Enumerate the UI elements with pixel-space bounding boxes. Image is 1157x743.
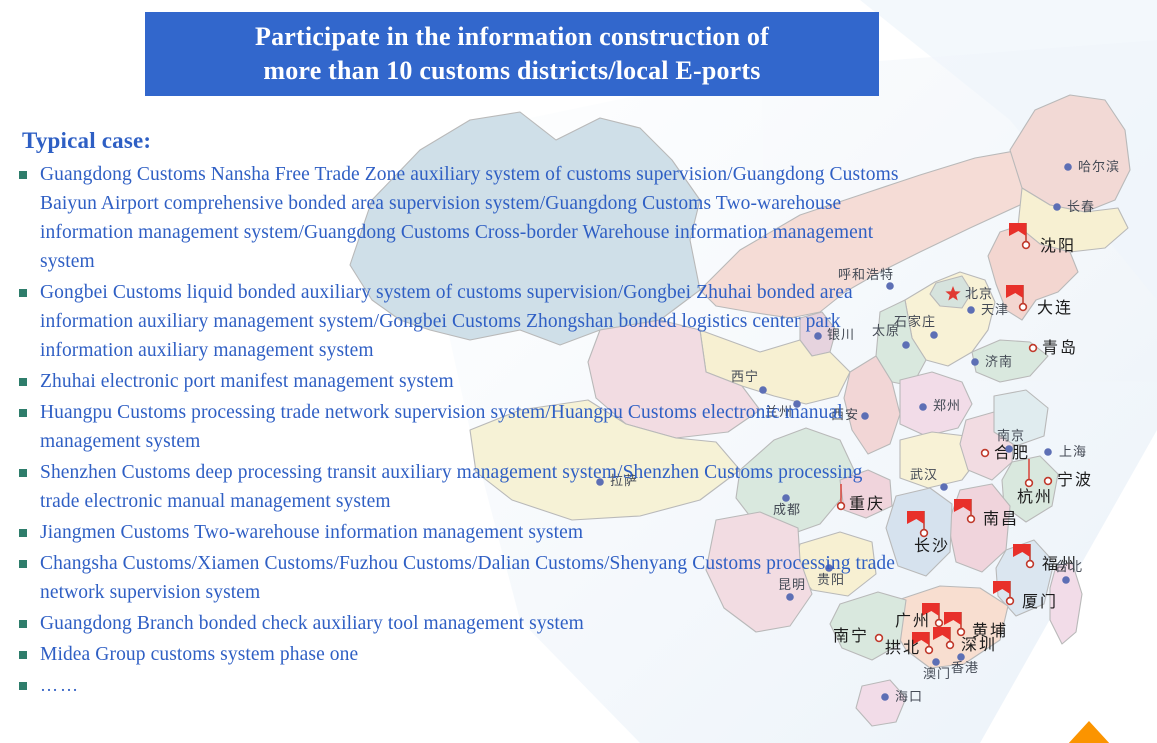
typical-case-heading: Typical case: xyxy=(22,128,900,154)
map-city-label-flagged: 南昌 xyxy=(983,509,1019,528)
map-major-city: 宁波 xyxy=(1045,470,1093,489)
square-bullet-icon xyxy=(19,651,27,659)
list-item: Changsha Customs/Xiamen Customs/Fuzhou C… xyxy=(16,549,900,607)
square-bullet-icon xyxy=(19,529,27,537)
map-city-label-minor: 上海 xyxy=(1059,445,1087,460)
map-minor-city: 澳门 xyxy=(923,658,951,682)
province-jilin xyxy=(1018,188,1128,252)
list-item: Midea Group customs system phase one xyxy=(16,640,900,669)
square-bullet-icon xyxy=(19,682,27,690)
capital-star-icon xyxy=(945,286,960,300)
map-city-label-flagged: 沈阳 xyxy=(1040,236,1076,255)
list-item: Zhuhai electronic port manifest manageme… xyxy=(16,367,900,396)
map-minor-city: 石家庄 xyxy=(894,314,938,339)
city-ring-marker xyxy=(1030,345,1037,352)
square-bullet-icon xyxy=(19,620,27,628)
square-bullet-icon xyxy=(19,171,27,179)
province-fujian xyxy=(996,540,1054,616)
map-city-label-flagged: 深圳 xyxy=(961,635,997,654)
list-item-label: Midea Group customs system phase one xyxy=(40,640,900,669)
city-ring-marker xyxy=(926,647,933,654)
city-dot-marker xyxy=(940,483,948,491)
list-item: Guangdong Branch bonded check auxiliary … xyxy=(16,609,900,638)
city-ring-marker xyxy=(1023,242,1030,249)
city-dot-marker xyxy=(1064,163,1072,171)
province-anhui xyxy=(960,412,1014,480)
slide-root: 沈阳大连南昌福州厦门广州黄埔深圳拱北长沙杭州重庆合肥宁波青岛南宁哈尔滨长春呼和浩… xyxy=(0,0,1157,743)
city-ring-marker xyxy=(1027,561,1034,568)
map-city-label-minor: 北京 xyxy=(965,287,993,302)
list-item: Gongbei Customs liquid bonded auxiliary … xyxy=(16,278,900,365)
map-city-label-minor: 石家庄 xyxy=(894,314,936,330)
city-dot-marker xyxy=(1005,445,1013,453)
city-dot-marker xyxy=(902,341,910,349)
list-item-label: Huangpu Customs processing trade network… xyxy=(40,398,900,456)
map-minor-city: 哈尔滨 xyxy=(1064,159,1120,175)
list-item-label: Zhuhai electronic port manifest manageme… xyxy=(40,367,900,396)
list-item-label: Shenzhen Customs deep processing transit… xyxy=(40,458,900,516)
map-capital-city: 北京 xyxy=(945,286,993,302)
map-city-label-pole: 杭州 xyxy=(1017,487,1053,506)
city-ring-marker xyxy=(936,620,943,627)
case-bullet-list: Guangdong Customs Nansha Free Trade Zone… xyxy=(0,160,900,700)
map-minor-city: 上海 xyxy=(1044,445,1087,460)
map-city-label-flagged: 大连 xyxy=(1037,298,1073,317)
province-taiwan xyxy=(1050,562,1082,644)
content-area: Typical case: Guangdong Customs Nansha F… xyxy=(0,104,900,702)
map-city-label-minor: 济南 xyxy=(985,354,1013,370)
city-ring-marker xyxy=(921,530,928,537)
map-minor-city: 长春 xyxy=(1053,200,1095,215)
province-jiangsu xyxy=(994,390,1048,446)
map-city-label-flagged: 厦门 xyxy=(1022,592,1058,611)
province-heilongjiang xyxy=(1010,95,1130,212)
page-title: Participate in the information construct… xyxy=(243,20,781,88)
list-item: …… xyxy=(16,671,900,700)
square-bullet-icon xyxy=(19,560,27,568)
map-flag-marker: 长沙 xyxy=(907,511,950,555)
city-dot-marker xyxy=(932,658,940,666)
list-item-label: …… xyxy=(40,671,900,700)
map-major-city: 青岛 xyxy=(1030,338,1078,357)
province-shandong xyxy=(972,340,1048,382)
square-bullet-icon xyxy=(19,469,27,477)
map-flag-marker: 广州 xyxy=(895,603,942,630)
province-hubei xyxy=(900,432,980,488)
list-item: Shenzhen Customs deep processing transit… xyxy=(16,458,900,516)
city-ring-marker xyxy=(982,450,989,457)
map-city-label-major: 合肥 xyxy=(994,443,1030,462)
map-city-label-minor: 长春 xyxy=(1067,200,1095,215)
city-ring-marker xyxy=(968,516,975,523)
map-flag-marker: 福州 xyxy=(1013,544,1078,573)
title-line-1: Participate in the information construct… xyxy=(255,22,769,51)
title-banner: Participate in the information construct… xyxy=(145,12,879,96)
map-flag-marker: 黄埔 xyxy=(944,612,1008,640)
list-item-label: Gongbei Customs liquid bonded auxiliary … xyxy=(40,278,900,365)
city-ring-marker xyxy=(1007,598,1014,605)
map-minor-city: 南京 xyxy=(997,428,1025,453)
list-item-label: Guangdong Customs Nansha Free Trade Zone… xyxy=(40,160,900,276)
list-item-label: Guangdong Branch bonded check auxiliary … xyxy=(40,609,900,638)
list-item: Guangdong Customs Nansha Free Trade Zone… xyxy=(16,160,900,276)
map-flag-marker: 南昌 xyxy=(954,499,1019,528)
map-minor-city: 台北 xyxy=(1055,560,1083,584)
square-bullet-icon xyxy=(19,378,27,386)
square-bullet-icon xyxy=(19,409,27,417)
city-ring-marker xyxy=(1026,480,1033,487)
map-major-city: 合肥 xyxy=(982,443,1030,462)
city-dot-marker xyxy=(930,331,938,339)
corner-triangle-decoration xyxy=(1067,721,1111,743)
city-dot-marker xyxy=(1062,576,1070,584)
map-city-label-flagged: 福州 xyxy=(1042,554,1078,573)
list-item-label: Jiangmen Customs Two-warehouse informati… xyxy=(40,518,900,547)
province-liaoning xyxy=(988,226,1078,320)
map-minor-city: 香港 xyxy=(951,653,979,676)
city-dot-marker xyxy=(967,306,975,314)
map-minor-city: 郑州 xyxy=(919,399,961,414)
city-dot-marker xyxy=(1053,203,1061,211)
map-city-label-major: 青岛 xyxy=(1042,338,1078,357)
map-minor-city: 天津 xyxy=(967,303,1009,318)
map-city-label-minor: 哈尔滨 xyxy=(1078,159,1120,175)
map-city-label-minor: 澳门 xyxy=(923,666,951,682)
map-city-label-flagged: 长沙 xyxy=(914,536,950,555)
city-dot-marker xyxy=(971,358,979,366)
map-minor-city: 济南 xyxy=(971,354,1013,370)
map-pole-marker: 杭州 xyxy=(1017,459,1053,506)
map-minor-city: 武汉 xyxy=(910,468,948,491)
square-bullet-icon xyxy=(19,289,27,297)
province-guangdong xyxy=(892,586,1008,668)
map-flag-marker: 厦门 xyxy=(993,581,1058,611)
map-city-label-flagged: 黄埔 xyxy=(972,621,1008,640)
map-city-label-minor: 武汉 xyxy=(910,468,938,483)
city-ring-marker xyxy=(1045,478,1052,485)
map-city-label-major: 宁波 xyxy=(1057,470,1093,489)
map-city-label-minor: 郑州 xyxy=(933,399,961,414)
title-line-2: more than 10 customs districts/local E-p… xyxy=(263,56,760,85)
map-city-label-minor: 台北 xyxy=(1055,560,1083,575)
map-city-label-minor: 天津 xyxy=(981,303,1009,318)
city-ring-marker xyxy=(1020,304,1027,311)
province-jiangxi xyxy=(948,484,1010,572)
list-item: Jiangmen Customs Two-warehouse informati… xyxy=(16,518,900,547)
map-flag-marker: 深圳 xyxy=(933,627,997,654)
list-item: Huangpu Customs processing trade network… xyxy=(16,398,900,456)
city-dot-marker xyxy=(919,403,927,411)
map-flag-marker: 大连 xyxy=(1006,285,1073,317)
city-dot-marker xyxy=(1044,448,1052,456)
list-item-label: Changsha Customs/Xiamen Customs/Fuzhou C… xyxy=(40,549,900,607)
province-zhejiang xyxy=(1002,456,1058,522)
city-ring-marker xyxy=(958,629,965,636)
map-city-label-minor: 香港 xyxy=(951,661,979,676)
map-flag-marker: 沈阳 xyxy=(1009,223,1076,255)
province-hebei xyxy=(905,272,995,366)
province-henan xyxy=(900,372,972,436)
city-dot-marker xyxy=(957,653,965,661)
map-city-label-minor: 南京 xyxy=(997,428,1025,444)
map-city-label-flagged: 广州 xyxy=(895,611,931,630)
city-ring-marker xyxy=(947,642,954,649)
municipality-beijing xyxy=(930,276,972,308)
